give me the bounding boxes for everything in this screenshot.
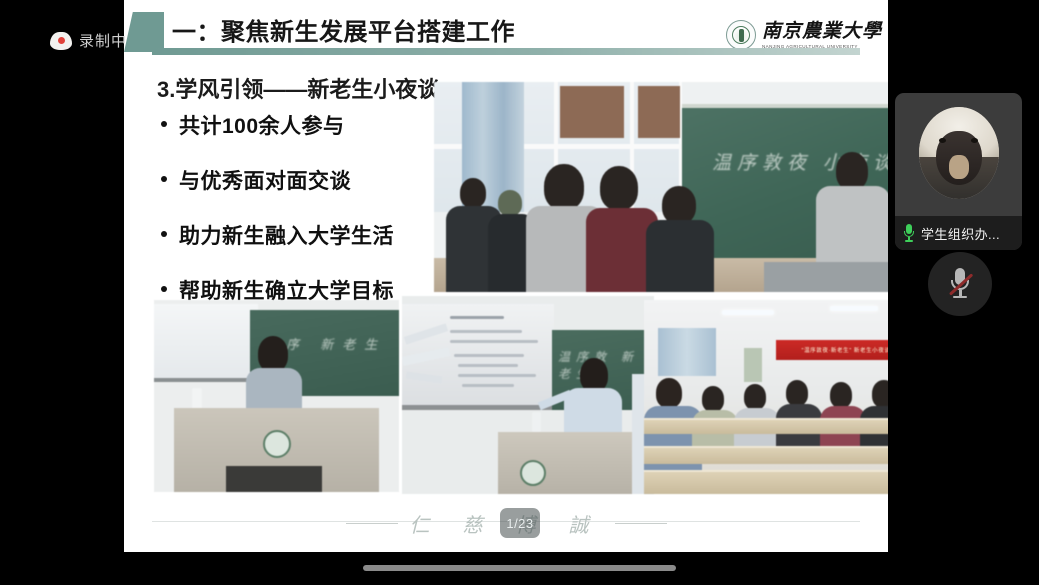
- recording-label: 录制中: [79, 30, 127, 51]
- photo-audience-hall: "温序敦夜·新老生" 新老生小夜谈: [644, 300, 888, 494]
- university-name-block: 南京農業大學 NANJING AGRICULTURAL UNIVERSITY: [762, 22, 882, 49]
- slide-subtitle: 3.学风引领——新老生小夜谈: [157, 72, 439, 104]
- bullet-label: 共计100余人参与: [179, 110, 345, 140]
- participant-tile[interactable]: 学生组织办...: [895, 93, 1022, 250]
- university-seal-icon: [726, 20, 756, 50]
- motto-rule-left: [346, 523, 398, 524]
- university-name-cn: 南京農業大學: [762, 22, 882, 41]
- microphone-muted-icon: [949, 268, 971, 300]
- avatar: [919, 107, 999, 199]
- home-indicator[interactable]: [363, 565, 676, 571]
- title-underline: [152, 48, 860, 55]
- bullet-dot-icon: [161, 286, 167, 292]
- microphone-on-icon: [903, 224, 915, 243]
- shared-slide[interactable]: 一：聚焦新生发展平台搭建工作 南京農業大學 NANJING AGRICULTUR…: [124, 0, 888, 552]
- list-item: 助力新生融入大学生活: [161, 220, 461, 250]
- list-item: 与优秀面对面交谈: [161, 165, 461, 195]
- photo-classroom-listeners: 温序敦夜 小夜谈 新老生: [434, 82, 888, 292]
- bullet-label: 助力新生融入大学生活: [179, 220, 394, 250]
- mute-toggle-button[interactable]: [928, 252, 992, 316]
- motto-rule-right: [615, 523, 667, 524]
- slide-title: 一：聚焦新生发展平台搭建工作: [172, 8, 772, 50]
- bullet-label: 与优秀面对面交谈: [179, 165, 351, 195]
- photo-projector-presentation: 温序敦 新老生: [402, 296, 654, 494]
- hall-banner: "温序敦夜·新老生" 新老生小夜谈: [776, 340, 888, 360]
- participant-name-bar: 学生组织办...: [895, 216, 1022, 250]
- page-indicator-badge: 1/23: [500, 508, 540, 538]
- participant-name: 学生组织办...: [921, 224, 1000, 243]
- recording-cloud-icon: [50, 32, 72, 50]
- banner-text: "温序敦夜·新老生" 新老生小夜谈: [802, 346, 888, 354]
- video-call-screen: 录制中 一：聚焦新生发展平台搭建工作 南京農業大學 NANJING AGRICU…: [0, 0, 1039, 585]
- bullet-dot-icon: [161, 121, 167, 127]
- list-item: 共计100余人参与: [161, 110, 461, 140]
- bullet-dot-icon: [161, 231, 167, 237]
- bullet-dot-icon: [161, 176, 167, 182]
- recording-indicator: 录制中: [50, 30, 127, 51]
- photo-podium-speaker: 温序 新老生谈: [154, 300, 399, 492]
- title-accent-shape: [124, 12, 164, 52]
